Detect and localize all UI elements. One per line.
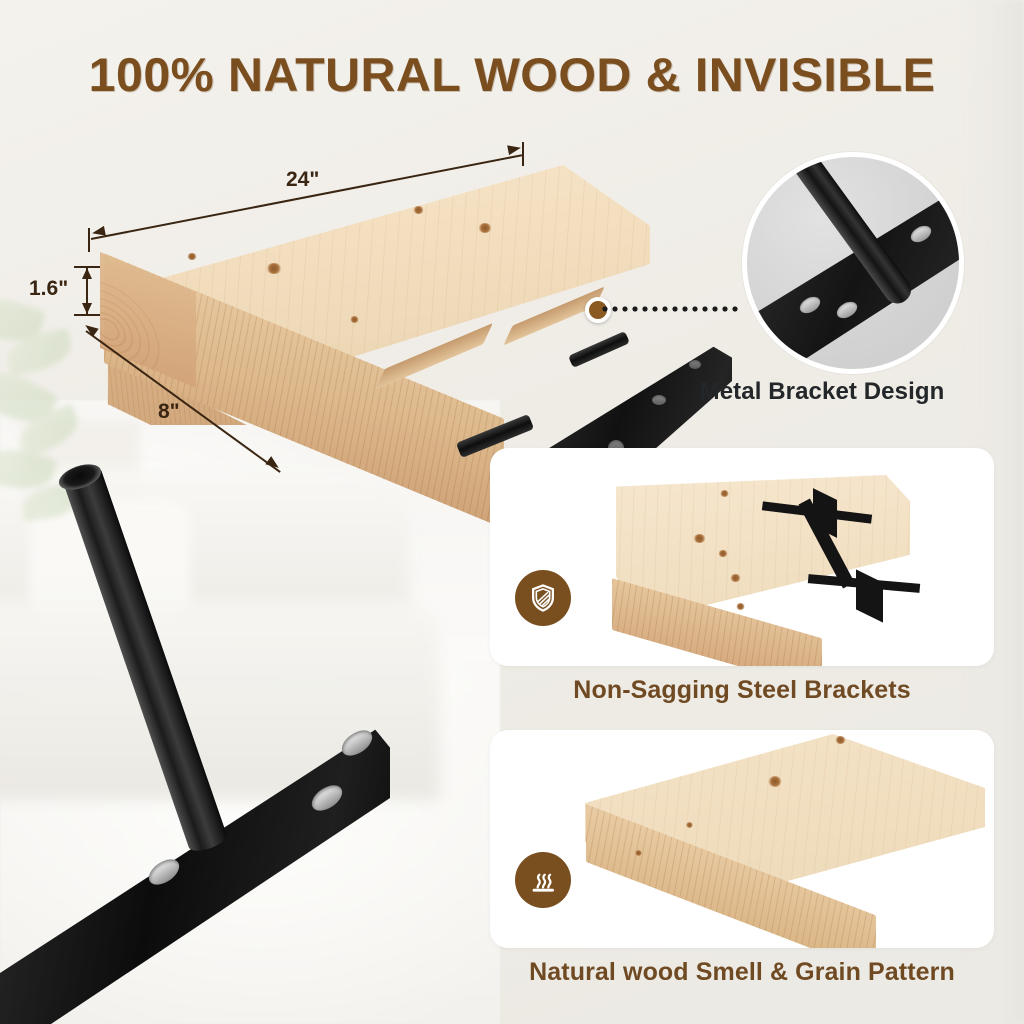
metal-bracket-zoom-circle [742,152,964,374]
wood-knot [187,253,197,260]
wood-knot [730,574,741,582]
wood-knot [835,736,846,744]
dimension-label-depth: 8" [158,400,180,424]
feature-caption-wood-grain: Natural wood Smell & Grain Pattern [490,958,994,987]
feature-caption-steel-brackets: Non-Sagging Steel Brackets [490,676,994,705]
wood-knot [478,223,492,233]
aroma-waves-icon [527,864,559,896]
dimension-arrowhead-down [82,303,92,314]
dimension-label-thickness: 1.6" [29,277,68,301]
wood-knot [266,263,282,274]
wood-knot [718,550,728,557]
metal-bracket-caption: Metal Bracket Design [620,378,1024,406]
feature-card-steel-brackets [490,448,994,666]
wood-knot [768,776,782,787]
shield-icon [527,582,559,614]
shield-icon-badge [515,570,571,626]
wood-knot [686,822,693,828]
page-title: 100% NATURAL WOOD & INVISIBLE [0,47,1024,102]
aroma-icon-badge [515,852,571,908]
wood-knot [693,534,706,543]
wood-knot [413,206,424,214]
dimension-tick-right [522,142,524,166]
dimension-tick-left [88,228,90,252]
bracket-screw-hole [689,360,701,369]
bracket-rod [568,331,630,368]
hero-shelf-illustration [60,140,680,500]
wood-knot [736,603,745,610]
zoom-bracket-plate [742,173,964,374]
wood-knot [350,316,359,323]
card-a-bracket-plate [856,569,883,622]
dimension-label-length: 24" [286,168,319,192]
dimension-arrowhead-up [82,268,92,279]
callout-connector-line [600,306,742,312]
wood-knot [720,490,729,497]
wood-knot [635,850,642,856]
feature-card-wood-grain [490,730,994,948]
dimension-tick-bottom [74,314,100,316]
infographic-canvas: 100% NATURAL WOOD & INVISIBLE 24" 1.6" [0,0,1024,1024]
